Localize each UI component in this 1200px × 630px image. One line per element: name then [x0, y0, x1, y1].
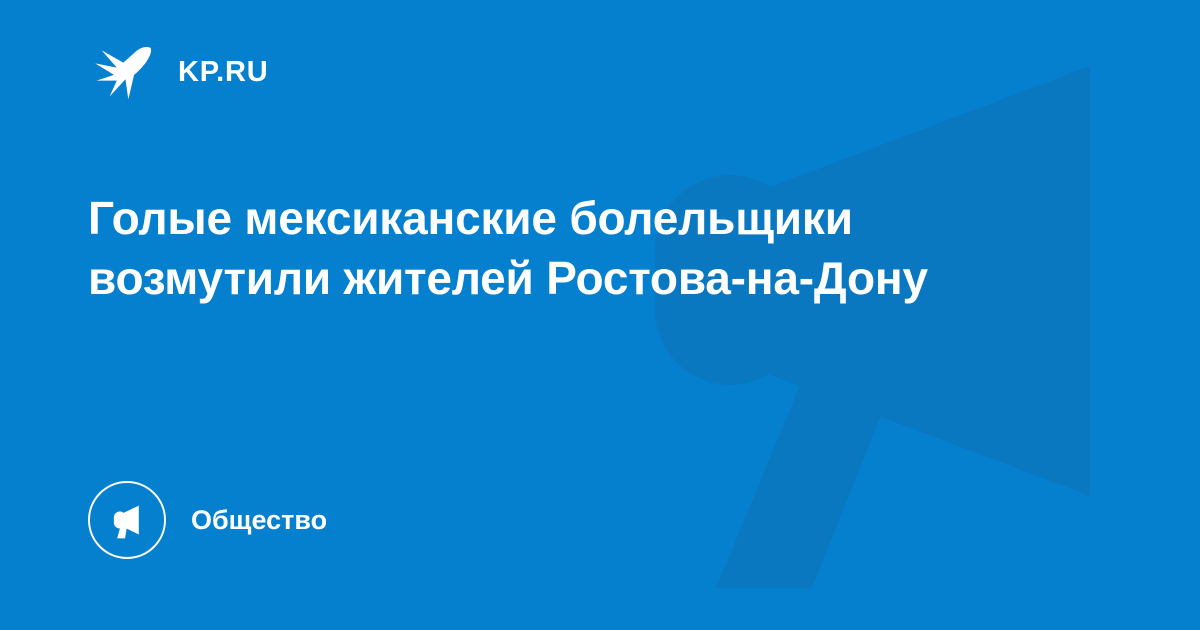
category-label: Общество [191, 507, 327, 534]
social-share-card: KP.RU Голые мексиканские болельщики возм… [0, 0, 1200, 630]
brand-logo[interactable]: KP.RU [88, 34, 269, 110]
page-title: Голые мексиканские болельщики возмутили … [88, 188, 1078, 308]
category-badge[interactable]: Общество [88, 481, 327, 559]
swallow-bird-icon [88, 36, 160, 108]
brand-name: KP.RU [178, 58, 269, 87]
megaphone-icon [88, 481, 166, 559]
